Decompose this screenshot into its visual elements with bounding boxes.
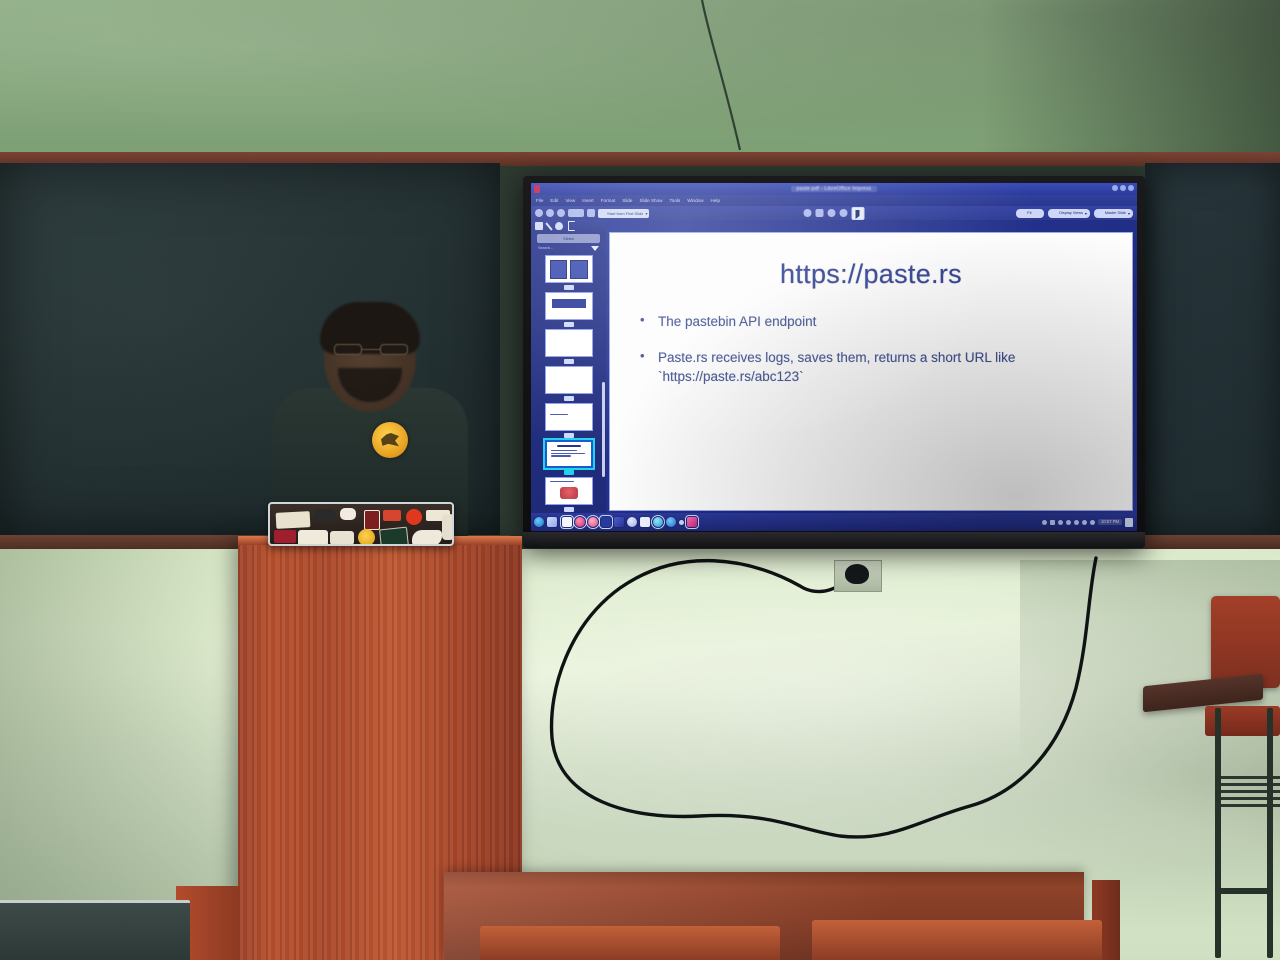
thumbnail-connector xyxy=(564,359,574,364)
menu-item-slideshow[interactable]: Slide Show xyxy=(639,198,662,203)
window-controls[interactable] xyxy=(1112,185,1134,191)
combo-glyph-icon xyxy=(600,211,605,216)
slide-panel-scrollbar[interactable] xyxy=(602,382,605,477)
chair-backrest xyxy=(1211,596,1280,688)
menu-item-format[interactable]: Format xyxy=(601,198,616,203)
menubar[interactable]: File Edit View Insert Format Slide Slide… xyxy=(531,195,1137,206)
zoom-out-icon[interactable] xyxy=(804,209,812,217)
master-slide-icon[interactable] xyxy=(1097,210,1103,217)
upper-wall-shadow xyxy=(980,0,1280,156)
battery-icon[interactable] xyxy=(1066,520,1071,525)
slide-title: https://paste.rs xyxy=(636,259,1106,290)
maximize-icon[interactable] xyxy=(1120,185,1126,191)
network-icon[interactable] xyxy=(1042,520,1047,525)
window-manager-icon[interactable] xyxy=(562,517,572,527)
slide-thumbnail-6-selected[interactable] xyxy=(545,440,593,468)
volume-icon[interactable] xyxy=(1050,520,1055,525)
wall-mounted-display: paste-pdf - LibreOffice Impress File Edi… xyxy=(523,176,1145,548)
chat-icon[interactable] xyxy=(627,517,637,527)
undo-icon[interactable] xyxy=(587,209,595,217)
bench-left xyxy=(480,926,780,960)
slide-panel[interactable]: Slides Search... xyxy=(531,232,606,513)
editor-icon[interactable] xyxy=(614,517,624,527)
new-doc-icon[interactable] xyxy=(535,209,543,217)
menu-item-window[interactable]: Window xyxy=(687,198,703,203)
music-icon[interactable] xyxy=(588,517,598,527)
menu-item-tools[interactable]: Tools xyxy=(669,198,680,203)
tray-dot-icon xyxy=(679,520,684,525)
sticker-covered-laptop xyxy=(268,502,454,546)
zoom-icon[interactable] xyxy=(1019,210,1025,216)
notification-icon[interactable] xyxy=(1074,520,1079,525)
slide-thumbnail-5[interactable] xyxy=(545,403,593,431)
print-icon[interactable] xyxy=(568,209,584,217)
eyeglasses-icon xyxy=(334,344,408,355)
window-title: paste-pdf - LibreOffice Impress xyxy=(791,186,878,192)
menu-item-file[interactable]: File xyxy=(536,198,543,203)
chalkboard-ledge-right xyxy=(1145,535,1280,549)
tray-extra2-icon[interactable] xyxy=(1090,520,1095,525)
menu-item-help[interactable]: Help xyxy=(711,198,720,203)
app-launcher-icon[interactable] xyxy=(534,517,544,527)
desktop-taskbar[interactable]: 10:57 PM xyxy=(531,513,1137,531)
select-tool-icon[interactable] xyxy=(535,222,543,230)
menu-item-edit[interactable]: Edit xyxy=(550,198,558,203)
master-slide-label: Master Slide xyxy=(1105,211,1126,215)
minimize-icon[interactable] xyxy=(1112,185,1118,191)
layout-combo[interactable]: Start from First Slide ▾ xyxy=(598,209,649,218)
chalkboard-right xyxy=(1145,163,1280,538)
files-icon[interactable] xyxy=(547,517,557,527)
crop-tool-icon[interactable] xyxy=(568,221,575,231)
taskbar-launchers[interactable] xyxy=(534,517,557,527)
thumbnail-connector xyxy=(564,322,574,327)
slide-canvas[interactable]: https://paste.rs The pastebin API endpoi… xyxy=(609,232,1133,511)
zoom-label: Fit xyxy=(1027,211,1031,215)
display-bezel xyxy=(523,532,1145,548)
display-chevron-icon[interactable]: ▾ xyxy=(1085,211,1087,216)
chevron-down-icon[interactable]: ▾ xyxy=(645,211,647,216)
thumbnail-connector xyxy=(564,396,574,401)
layout-combo-label: Start from First Slide xyxy=(607,211,643,216)
thumbnail-image-icon xyxy=(560,487,578,499)
drawing-toolbar[interactable] xyxy=(531,220,606,232)
menu-item-slide[interactable]: Slide xyxy=(622,198,632,203)
thumbnail-connector xyxy=(564,433,574,438)
slide-search-placeholder: Search... xyxy=(538,246,553,250)
slide-bullet-1: The pastebin API endpoint xyxy=(636,312,1106,332)
thumbnail-connector xyxy=(564,285,574,290)
bluetooth-icon[interactable] xyxy=(1058,520,1063,525)
terminal-icon[interactable] xyxy=(601,517,611,527)
slide-search[interactable]: Search... xyxy=(535,244,602,252)
close-icon[interactable] xyxy=(1128,185,1134,191)
bench-right xyxy=(812,920,1102,960)
taskbar-tasks[interactable] xyxy=(562,517,697,527)
slide-panel-header: Slides xyxy=(537,234,600,243)
browser-icon[interactable] xyxy=(575,517,585,527)
system-tray[interactable]: 10:57 PM xyxy=(1042,518,1133,527)
zoom-control[interactable]: Fit xyxy=(1016,209,1044,218)
grid-icon[interactable] xyxy=(816,209,824,217)
toolbar-center-group[interactable] xyxy=(804,207,865,220)
taskbar-clock[interactable]: 10:57 PM xyxy=(1098,519,1122,526)
menu-item-insert[interactable]: Insert xyxy=(582,198,594,203)
guides-icon[interactable] xyxy=(840,209,848,217)
slide-bullet-list: The pastebin API endpoint Paste.rs recei… xyxy=(636,312,1106,387)
display-screen: paste-pdf - LibreOffice Impress File Edi… xyxy=(531,183,1137,531)
pen-tool-icon[interactable] xyxy=(545,222,552,230)
tablet-arm-chair xyxy=(1205,596,1280,960)
chevron-down-icon[interactable] xyxy=(591,246,599,251)
slide-thumbnail-4[interactable] xyxy=(545,366,593,394)
impress-icon[interactable] xyxy=(687,517,697,527)
mouse-cursor-icon xyxy=(852,207,865,220)
shirt-badge xyxy=(372,422,408,458)
power-cable xyxy=(500,548,1200,848)
open-icon[interactable] xyxy=(546,209,554,217)
menu-item-view[interactable]: View xyxy=(565,198,575,203)
slide-thumbnail-7[interactable] xyxy=(545,477,593,505)
display-views-icon[interactable] xyxy=(1051,210,1057,216)
master-slide-control[interactable]: Master Slide ▾ xyxy=(1094,209,1133,218)
slide-thumbnail-1[interactable] xyxy=(545,255,593,283)
slide-thumbnail-2[interactable] xyxy=(545,292,593,320)
snap-icon[interactable] xyxy=(828,209,836,217)
media-icon[interactable] xyxy=(666,517,676,527)
slide-bullet-2: Paste.rs receives logs, saves them, retu… xyxy=(636,348,1106,387)
mail-icon[interactable] xyxy=(640,517,650,527)
master-chevron-icon[interactable]: ▾ xyxy=(1128,211,1130,216)
thumbnail-connector xyxy=(564,470,574,475)
show-desktop-icon[interactable] xyxy=(1125,518,1133,527)
toolbar-right-group[interactable]: Fit Display Views ▾ Master Slide ▾ xyxy=(1016,209,1133,218)
main-toolbar[interactable]: Start from First Slide ▾ Fit xyxy=(531,206,1137,220)
slide-thumbnail-3[interactable] xyxy=(545,329,593,357)
lecture-hall-scene: paste-pdf - LibreOffice Impress File Edi… xyxy=(0,0,1280,960)
slide-panel-title: Slides xyxy=(563,236,574,241)
save-icon[interactable] xyxy=(557,209,565,217)
desk-left-foreground xyxy=(0,900,190,960)
fill-tool-icon[interactable] xyxy=(555,222,563,230)
display-views-label: Display Views xyxy=(1059,211,1083,215)
cable-junction xyxy=(845,564,869,584)
tray-extra-icon[interactable] xyxy=(1082,520,1087,525)
ceiling-wire xyxy=(640,0,750,160)
display-views-control[interactable]: Display Views ▾ xyxy=(1048,209,1090,218)
window-titlebar: paste-pdf - LibreOffice Impress xyxy=(531,183,1137,195)
settings-icon[interactable] xyxy=(653,517,663,527)
thumbnail-connector xyxy=(564,507,574,512)
slide-thumbnail-list[interactable] xyxy=(531,255,606,513)
toolbar-left-group[interactable]: Start from First Slide ▾ xyxy=(535,209,649,218)
window-close-icon[interactable] xyxy=(534,185,540,193)
